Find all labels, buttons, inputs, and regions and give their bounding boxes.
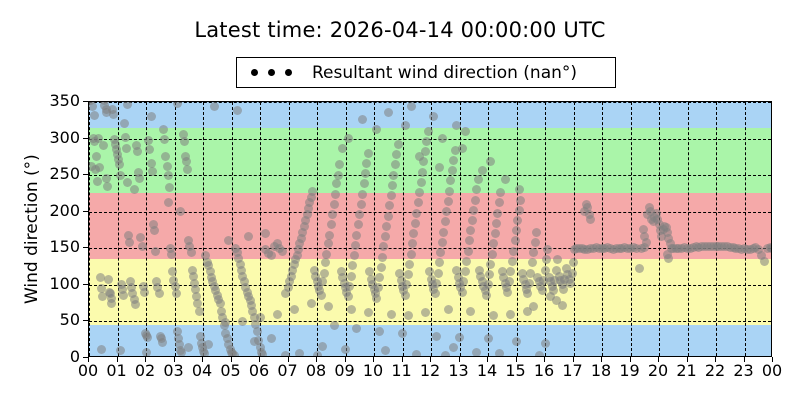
- scatter-point: [444, 305, 453, 314]
- scatter-point: [125, 238, 134, 247]
- scatter-point: [407, 102, 416, 111]
- y-tick-mark: [83, 174, 88, 175]
- scatter-point: [160, 135, 169, 144]
- scatter-point: [411, 219, 420, 228]
- scatter-point: [482, 291, 491, 300]
- scatter-point: [505, 277, 514, 286]
- scatter-point: [325, 231, 334, 240]
- scatter-point: [385, 201, 394, 210]
- scatter-point: [164, 171, 173, 180]
- scatter-point: [532, 228, 541, 237]
- y-tick-mark: [83, 320, 88, 321]
- scatter-point: [448, 166, 457, 175]
- scatter-point: [233, 106, 242, 115]
- scatter-point: [351, 241, 360, 250]
- scatter-point: [489, 239, 498, 248]
- scatter-point: [210, 102, 219, 111]
- scatter-point: [461, 267, 470, 276]
- scatter-point: [495, 198, 504, 207]
- y-tick-label: 0: [32, 347, 80, 366]
- scatter-point: [531, 238, 540, 247]
- scatter-point: [168, 267, 177, 276]
- scatter-point: [364, 149, 373, 158]
- scatter-point: [441, 217, 450, 226]
- scatter-point: [88, 102, 97, 111]
- scatter-point: [130, 185, 139, 194]
- scatter-point: [444, 197, 453, 206]
- scatter-point: [496, 188, 505, 197]
- scatter-point: [123, 101, 132, 109]
- scatter-point: [513, 216, 522, 225]
- scatter-point: [391, 160, 400, 169]
- scatter-point: [155, 289, 164, 298]
- scatter-point: [484, 334, 493, 343]
- scatter-point: [173, 101, 182, 108]
- scatter-point: [512, 226, 521, 235]
- scatter-point: [138, 242, 147, 251]
- scatter-point: [409, 229, 418, 238]
- scatter-point: [388, 181, 397, 190]
- scatter-point: [103, 182, 112, 191]
- scatter-point: [136, 233, 145, 242]
- scatter-point: [328, 210, 337, 219]
- scatter-point: [506, 310, 515, 319]
- scatter-point: [525, 279, 534, 288]
- scatter-point: [434, 269, 443, 278]
- scatter-point: [281, 351, 290, 357]
- scatter-point: [355, 210, 364, 219]
- dot-marker-icon: [251, 69, 258, 76]
- scatter-point: [446, 176, 455, 185]
- scatter-point: [392, 150, 401, 159]
- scatter-point: [131, 300, 140, 309]
- y-tick-label: 50: [32, 310, 80, 329]
- scatter-point: [541, 339, 550, 348]
- scatter-point: [511, 236, 520, 245]
- scatter-point: [515, 206, 524, 215]
- scatter-point: [195, 307, 204, 316]
- scatter-point: [307, 299, 316, 308]
- chart-title: Latest time: 2026-04-14 00:00:00 UTC: [0, 18, 800, 42]
- scatter-point: [163, 162, 172, 171]
- scatter-point: [465, 236, 474, 245]
- y-tick-mark: [83, 211, 88, 212]
- scatter-point: [438, 134, 447, 143]
- y-axis-title: Wind direction (°): [22, 154, 42, 304]
- scatter-point: [485, 270, 494, 279]
- scatter-point: [115, 160, 124, 169]
- scatter-point: [313, 351, 322, 357]
- scatter-point: [256, 313, 265, 322]
- scatter-point: [324, 302, 333, 311]
- plot-area[interactable]: [88, 101, 772, 357]
- scatter-point: [635, 264, 644, 273]
- scatter-point: [338, 144, 347, 153]
- scatter-point: [452, 121, 461, 130]
- scatter-point: [489, 311, 498, 320]
- scatter-point: [107, 299, 116, 308]
- scatter-point: [421, 308, 430, 317]
- scatter-point: [528, 258, 537, 267]
- scatter-point: [458, 288, 467, 297]
- scatter-point: [151, 247, 160, 256]
- scatter-point: [516, 196, 525, 205]
- scatter-point: [377, 263, 386, 272]
- scatter-point: [150, 226, 159, 235]
- scatter-point: [331, 190, 340, 199]
- scatter-point: [642, 238, 651, 247]
- scatter-point: [382, 222, 391, 231]
- scatter-point: [404, 270, 413, 279]
- scatter-point: [121, 133, 130, 142]
- scatter-point: [515, 185, 524, 194]
- scatter-point: [566, 279, 575, 288]
- scatter-point: [459, 277, 468, 286]
- scatter-point: [491, 229, 500, 238]
- scatter-point: [352, 324, 361, 333]
- scatter-point: [364, 308, 373, 317]
- scatter-point: [381, 346, 390, 355]
- scatter-point: [435, 258, 444, 267]
- scatter-point: [569, 258, 578, 267]
- scatter-point: [321, 258, 330, 267]
- scatter-point: [324, 239, 333, 248]
- scatter-point: [412, 209, 421, 218]
- scatter-point: [335, 160, 344, 169]
- scatter-point: [135, 174, 144, 183]
- scatter-point: [509, 247, 518, 256]
- scatter-point: [258, 350, 267, 357]
- scatter-point: [405, 260, 414, 269]
- scatter-point: [435, 163, 444, 172]
- scatter-point: [568, 269, 577, 278]
- legend-marker-dots: [251, 69, 292, 76]
- scatter-point: [332, 179, 341, 188]
- scatter-point: [318, 342, 327, 351]
- scatter-point: [187, 248, 196, 257]
- scatter-point: [330, 200, 339, 209]
- scatter-point: [586, 215, 595, 224]
- scatter-point: [407, 250, 416, 259]
- scatter-point: [119, 291, 128, 300]
- y-tick-mark: [83, 138, 88, 139]
- scatter-point: [432, 332, 441, 341]
- scatter-point: [290, 305, 299, 314]
- scatter-point: [102, 105, 111, 114]
- scatter-point: [472, 185, 481, 194]
- scatter-point: [375, 273, 384, 282]
- scatter-point: [445, 187, 454, 196]
- scatter-point: [278, 247, 287, 256]
- scatter-point: [543, 245, 552, 254]
- scatter-point: [352, 231, 361, 240]
- scatter-point: [244, 232, 253, 241]
- scatter-point: [92, 152, 101, 161]
- scatter-point: [493, 209, 502, 218]
- scatter-point: [375, 327, 384, 336]
- y-tick-mark: [83, 284, 88, 285]
- scatter-point: [486, 260, 495, 269]
- scatter-point: [372, 294, 381, 303]
- scatter-point: [345, 282, 354, 291]
- scatter-point: [471, 196, 480, 205]
- scatter-point: [415, 188, 424, 197]
- scatter-point: [538, 286, 547, 295]
- scatter-point: [492, 219, 501, 228]
- scatter-point: [167, 250, 176, 259]
- scatter-point: [318, 277, 327, 286]
- scatter-point: [558, 301, 567, 310]
- scatter-point: [461, 127, 470, 136]
- dot-marker-icon: [268, 69, 275, 76]
- scatter-point: [424, 127, 433, 136]
- scatter-point: [436, 248, 445, 257]
- scatter-point: [344, 134, 353, 143]
- scatter-point: [664, 254, 673, 263]
- scatter-point: [401, 291, 410, 300]
- y-tick-label: 300: [32, 128, 80, 147]
- scatter-point: [523, 289, 532, 298]
- scatter-point: [122, 144, 131, 153]
- scatter-point: [120, 119, 129, 128]
- scatter-point: [273, 310, 282, 319]
- scatter-point: [347, 305, 356, 314]
- scatter-point: [320, 269, 329, 278]
- scatter-point: [142, 348, 151, 357]
- scatter-point: [488, 250, 497, 259]
- scatter-point: [358, 190, 367, 199]
- scatter-point: [354, 220, 363, 229]
- scatter-point: [535, 351, 544, 357]
- scatter-point: [308, 187, 317, 196]
- scatter-point: [161, 152, 170, 161]
- scatter-point: [486, 157, 495, 166]
- scatter-point: [158, 338, 167, 347]
- scatter-point: [767, 244, 772, 253]
- scatter-point: [401, 121, 410, 130]
- legend-label: Resultant wind direction (nan°): [312, 63, 577, 83]
- scatter-point: [348, 261, 357, 270]
- scatter-point: [267, 251, 276, 260]
- scatter-point: [455, 333, 464, 342]
- scatter-point: [387, 191, 396, 200]
- scatter-point: [478, 166, 487, 175]
- scatter-point: [334, 171, 343, 180]
- scatter-point: [508, 257, 517, 266]
- scatter-point: [140, 288, 149, 297]
- scatter-point: [387, 310, 396, 319]
- scatter-point: [412, 350, 421, 357]
- scatter-point: [760, 257, 769, 266]
- scatter-point: [529, 302, 538, 311]
- scatter-point: [362, 159, 371, 168]
- y-tick-mark: [83, 357, 88, 358]
- y-tick-mark: [83, 101, 88, 102]
- scatter-point: [449, 156, 458, 165]
- scatter-point: [147, 112, 156, 121]
- scatter-point: [180, 137, 189, 146]
- scatter-point: [372, 125, 381, 134]
- scatter-point: [529, 248, 538, 257]
- scatter-point: [148, 167, 157, 176]
- scatter-point: [172, 289, 181, 298]
- scatter-point: [144, 136, 153, 145]
- scatter-point: [238, 317, 247, 326]
- dot-marker-icon: [285, 69, 292, 76]
- scatter-point: [341, 345, 350, 354]
- scatter-point: [384, 212, 393, 221]
- scatter-point: [93, 177, 102, 186]
- y-tick-label: 350: [32, 91, 80, 110]
- scatter-point: [176, 207, 185, 216]
- scatter-point: [466, 307, 475, 316]
- scatter-point: [184, 343, 193, 352]
- scatter-point: [221, 318, 230, 327]
- scatter-point: [472, 348, 481, 357]
- scatter-point: [374, 283, 383, 292]
- scatter-point: [330, 321, 339, 330]
- scatter-point: [99, 141, 108, 150]
- scatter-point: [145, 145, 154, 154]
- scatter-point: [469, 206, 478, 215]
- scatter-point: [90, 111, 99, 120]
- scatter-point: [462, 257, 471, 266]
- scatter-point: [295, 349, 304, 357]
- scatter-point: [458, 144, 467, 153]
- scatter-point: [183, 165, 192, 174]
- scatter-point: [408, 239, 417, 248]
- scatter-point: [267, 334, 276, 343]
- scatter-point: [464, 247, 473, 256]
- scatter-point: [429, 112, 438, 121]
- scatter-point: [432, 279, 441, 288]
- scatter-point: [384, 108, 393, 117]
- scatter-point: [344, 292, 353, 301]
- scatter-point: [347, 272, 356, 281]
- scatter-point: [414, 198, 423, 207]
- scatter-point: [381, 232, 390, 241]
- scatter-point: [438, 238, 447, 247]
- scatter-point: [204, 340, 213, 349]
- scatter-point: [542, 255, 551, 264]
- scatter-point: [394, 140, 403, 149]
- scatter-point: [253, 327, 262, 336]
- scatter-point: [116, 346, 125, 355]
- scatter-point: [553, 255, 562, 264]
- scatter-point: [389, 171, 398, 180]
- scatter-point: [102, 174, 111, 183]
- scatter-point: [95, 163, 104, 172]
- scatter-point: [143, 333, 152, 342]
- scatter-point: [379, 242, 388, 251]
- scatter-point: [495, 349, 504, 357]
- scatter-point: [104, 275, 113, 284]
- scatter-point: [466, 226, 475, 235]
- scatter-point: [402, 280, 411, 289]
- chart-legend[interactable]: Resultant wind direction (nan°): [236, 57, 616, 88]
- scatter-point: [417, 178, 426, 187]
- scatter-point: [468, 216, 477, 225]
- scatter-point: [441, 351, 450, 357]
- scatter-point: [97, 345, 106, 354]
- scatter-point: [404, 311, 413, 320]
- scatter-point: [398, 329, 407, 338]
- scatter-point: [159, 125, 168, 134]
- scatter-point: [512, 337, 521, 346]
- scatter-point: [133, 147, 142, 156]
- scatter-point: [322, 250, 331, 259]
- scatter-point: [164, 198, 173, 207]
- scatter-point: [506, 267, 515, 276]
- scatter-point: [200, 349, 209, 357]
- scatter-point: [503, 288, 512, 297]
- scatter-point: [418, 168, 427, 177]
- scatter-point: [442, 207, 451, 216]
- scatter-point-layer: [89, 102, 771, 356]
- scatter-point: [350, 251, 359, 260]
- scatter-point: [358, 115, 367, 124]
- scatter-point: [484, 280, 493, 289]
- scatter-point: [378, 253, 387, 262]
- scatter-point: [357, 200, 366, 209]
- scatter-point: [415, 152, 424, 161]
- scatter-point: [327, 220, 336, 229]
- scatter-point: [317, 291, 326, 300]
- wind-direction-chart: Latest time: 2026-04-14 00:00:00 UTC Res…: [0, 0, 800, 400]
- scatter-point: [449, 343, 458, 352]
- scatter-point: [361, 169, 370, 178]
- scatter-point: [165, 183, 174, 192]
- scatter-point: [501, 175, 510, 184]
- scatter-point: [261, 229, 270, 238]
- scatter-point: [474, 175, 483, 184]
- scatter-point: [439, 228, 448, 237]
- y-tick-mark: [83, 247, 88, 248]
- scatter-point: [431, 289, 440, 298]
- x-tick-label: 00: [752, 361, 792, 380]
- scatter-point: [422, 137, 431, 146]
- scatter-point: [360, 179, 369, 188]
